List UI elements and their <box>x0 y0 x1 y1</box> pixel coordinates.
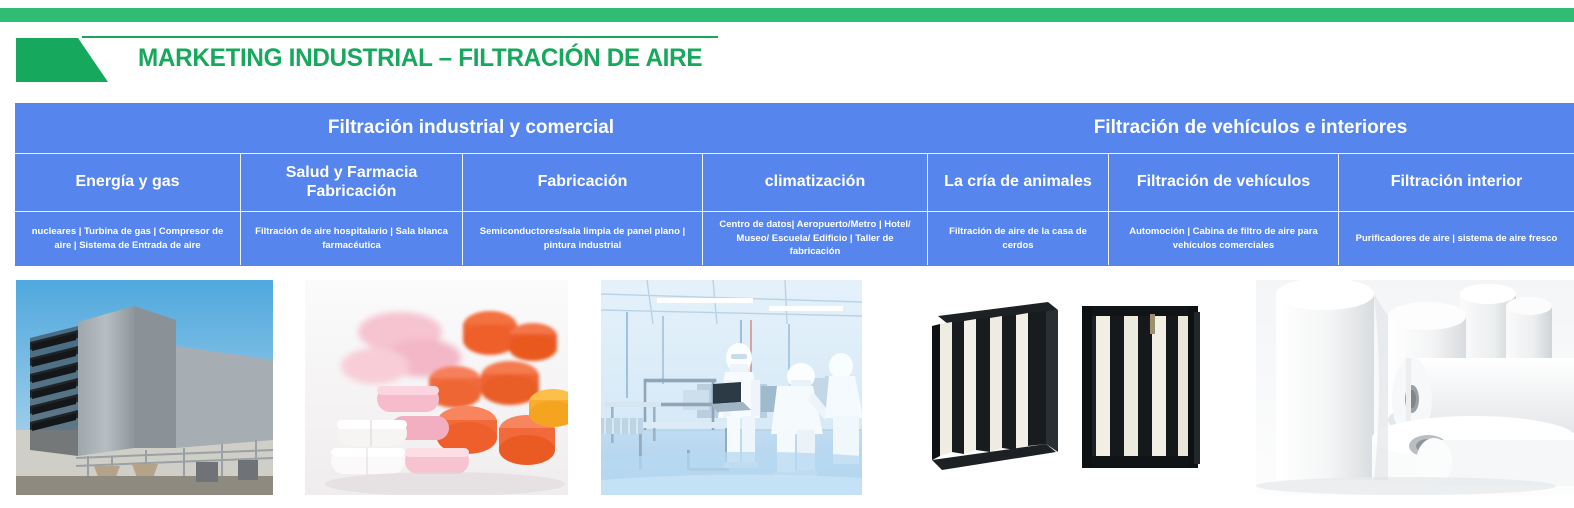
detail-animal-husbandry: Filtración de aire de la casa de cerdos <box>927 212 1108 265</box>
photo-cleanroom <box>601 280 862 495</box>
title-divider-rule <box>82 36 718 38</box>
detail-energy-gas: nucleares | Turbina de gas | Compresor d… <box>15 212 240 265</box>
column-header-vehicle-filtration: Filtración de vehículos <box>1108 154 1338 211</box>
detail-interior-filtration: Purificadores de aire | sistema de aire … <box>1338 212 1574 265</box>
group-header-industrial-commercial: Filtración industrial y comercial <box>15 103 927 153</box>
green-trapezoid-accent <box>16 38 108 82</box>
application-matrix-table: Filtración industrial y comercial Filtra… <box>15 103 1574 266</box>
column-header-health-pharma: Salud y Farmacia Fabricación <box>240 154 462 211</box>
slide-canvas: MARKETING INDUSTRIAL – FILTRACIÓN DE AIR… <box>0 0 1574 508</box>
matrix-detail-row: nucleares | Turbina de gas | Compresor d… <box>15 211 1574 265</box>
photo-industrial-plant <box>16 280 273 495</box>
detail-hvac: Centro de datos| Aeropuerto/Metro | Hote… <box>702 212 927 265</box>
column-header-energy-gas: Energía y gas <box>15 154 240 211</box>
column-header-hvac: climatización <box>702 154 927 211</box>
page-title: MARKETING INDUSTRIAL – FILTRACIÓN DE AIR… <box>138 44 1011 73</box>
column-header-manufacturing: Fabricación <box>462 154 702 211</box>
photo-filter-media-rolls <box>1256 280 1574 495</box>
matrix-column-header-row: Energía y gas Salud y Farmacia Fabricaci… <box>15 153 1574 211</box>
column-header-animal-husbandry: La cría de animales <box>927 154 1108 211</box>
detail-manufacturing: Semiconductores/sala limpia de panel pla… <box>462 212 702 265</box>
photo-strip <box>0 280 1574 495</box>
green-top-bar <box>0 8 1574 22</box>
detail-health-pharma: Filtración de aire hospitalario | Sala b… <box>240 212 462 265</box>
matrix-group-header-row: Filtración industrial y comercial Filtra… <box>15 103 1574 153</box>
column-header-interior-filtration: Filtración interior <box>1338 154 1574 211</box>
group-header-vehicle-interior: Filtración de vehículos e interiores <box>927 103 1574 153</box>
detail-vehicle-filtration: Automoción | Cabina de filtro de aire pa… <box>1108 212 1338 265</box>
photo-vbank-filters <box>906 280 1209 495</box>
photo-pharma-tablets <box>305 280 568 495</box>
